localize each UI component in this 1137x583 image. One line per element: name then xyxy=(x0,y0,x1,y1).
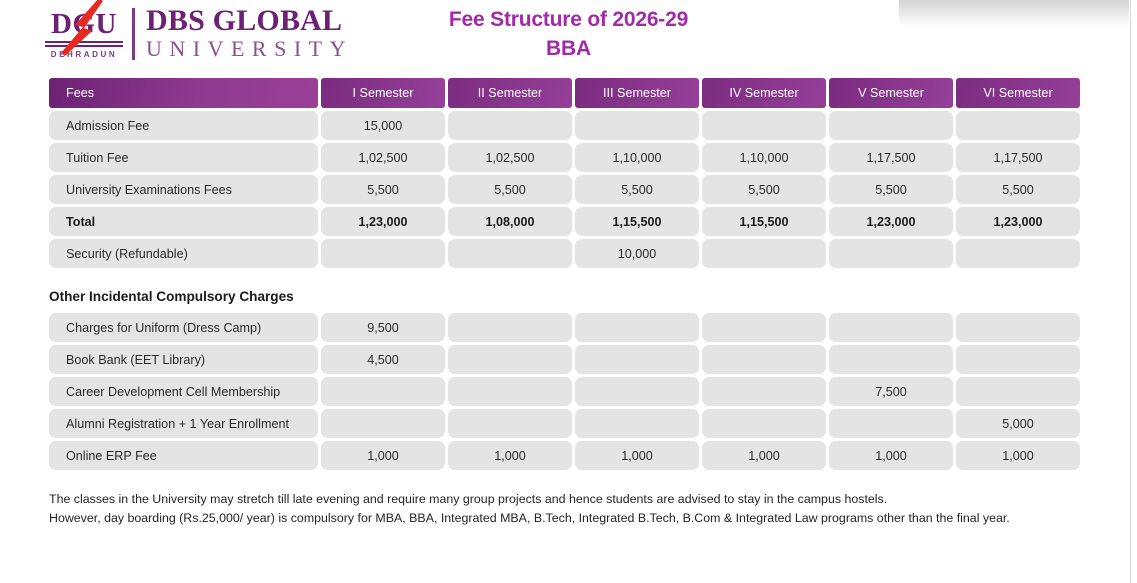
row-value xyxy=(956,377,1080,406)
row-value: 5,500 xyxy=(448,175,572,204)
row-label: Tuition Fee xyxy=(49,143,318,172)
footnote-line-2: However, day boarding (Rs.25,000/ year) … xyxy=(49,509,1137,528)
row-value xyxy=(956,313,1080,342)
page-title-line2: BBA xyxy=(0,35,1137,64)
row-value xyxy=(575,111,699,140)
row-value: 1,02,500 xyxy=(448,143,572,172)
row-label: Online ERP Fee xyxy=(49,441,318,470)
row-value: 5,000 xyxy=(956,409,1080,438)
row-value xyxy=(829,239,953,268)
row-value: 5,500 xyxy=(956,175,1080,204)
column-header-fees: Fees xyxy=(49,78,318,108)
row-value xyxy=(321,409,445,438)
row-value: 1,08,000 xyxy=(448,207,572,236)
row-value xyxy=(448,313,572,342)
row-value xyxy=(575,345,699,374)
row-value: 1,23,000 xyxy=(829,207,953,236)
footnotes: The classes in the University may stretc… xyxy=(49,490,1137,528)
row-value: 1,10,000 xyxy=(702,143,826,172)
row-value: 1,000 xyxy=(448,441,572,470)
row-value xyxy=(575,313,699,342)
column-header-sem-2: II Semester xyxy=(448,78,572,108)
row-value xyxy=(702,111,826,140)
row-value: 1,15,500 xyxy=(702,207,826,236)
row-value: 1,000 xyxy=(321,441,445,470)
row-value: 1,17,500 xyxy=(829,143,953,172)
row-value: 1,23,000 xyxy=(956,207,1080,236)
table-header-row: Fees I Semester II Semester III Semester… xyxy=(49,78,1069,108)
row-value: 1,000 xyxy=(702,441,826,470)
row-value: 1,000 xyxy=(956,441,1080,470)
table-row: Tuition Fee 1,02,500 1,02,500 1,10,000 1… xyxy=(49,143,1069,172)
row-value: 1,000 xyxy=(829,441,953,470)
row-value: 10,000 xyxy=(575,239,699,268)
row-label: Career Development Cell Membership xyxy=(49,377,318,406)
row-value: 4,500 xyxy=(321,345,445,374)
row-value: 5,500 xyxy=(575,175,699,204)
row-value: 1,23,000 xyxy=(321,207,445,236)
column-header-sem-4: IV Semester xyxy=(702,78,826,108)
row-label: Book Bank (EET Library) xyxy=(49,345,318,374)
row-value xyxy=(448,377,572,406)
incidental-charges-heading: Other Incidental Compulsory Charges xyxy=(49,289,1137,304)
row-label: Alumni Registration + 1 Year Enrollment xyxy=(49,409,318,438)
row-value: 5,500 xyxy=(321,175,445,204)
row-value xyxy=(829,111,953,140)
page-title-line1: Fee Structure of 2026-29 xyxy=(449,8,688,31)
row-label: Charges for Uniform (Dress Camp) xyxy=(49,313,318,342)
row-value xyxy=(702,409,826,438)
column-header-sem-1: I Semester xyxy=(321,78,445,108)
row-value xyxy=(956,239,1080,268)
fee-structure-table: Fees I Semester II Semester III Semester… xyxy=(49,78,1069,268)
fee-structure-page: DGU DEHRADUN DBS GLOBAL UNIVERSITY Fee S… xyxy=(0,0,1137,583)
row-value: 1,17,500 xyxy=(956,143,1080,172)
footnote-line-1: The classes in the University may stretc… xyxy=(49,490,1137,509)
page-right-edge xyxy=(1130,0,1137,583)
table-row: Career Development Cell Membership 7,500 xyxy=(49,377,1069,406)
row-value: 15,000 xyxy=(321,111,445,140)
incidental-charges-table: Charges for Uniform (Dress Camp) 9,500 B… xyxy=(49,313,1069,470)
row-value xyxy=(448,111,572,140)
row-value xyxy=(448,409,572,438)
row-value xyxy=(702,345,826,374)
row-label: Security (Refundable) xyxy=(49,239,318,268)
row-value xyxy=(956,111,1080,140)
row-value: 5,500 xyxy=(829,175,953,204)
row-value xyxy=(702,377,826,406)
column-header-sem-3: III Semester xyxy=(575,78,699,108)
row-value xyxy=(829,313,953,342)
page-header: DGU DEHRADUN DBS GLOBAL UNIVERSITY Fee S… xyxy=(0,0,1137,78)
row-value xyxy=(829,345,953,374)
row-value: 1,000 xyxy=(575,441,699,470)
row-value: 1,02,500 xyxy=(321,143,445,172)
table-row: Security (Refundable) 10,000 xyxy=(49,239,1069,268)
table-row: University Examinations Fees 5,500 5,500… xyxy=(49,175,1069,204)
row-value xyxy=(321,239,445,268)
table-row-total: Total 1,23,000 1,08,000 1,15,500 1,15,50… xyxy=(49,207,1069,236)
page-title: Fee Structure of 2026-29 BBA xyxy=(0,6,1137,64)
row-value xyxy=(448,345,572,374)
row-label: Admission Fee xyxy=(49,111,318,140)
table-row: Admission Fee 15,000 xyxy=(49,111,1069,140)
row-value: 9,500 xyxy=(321,313,445,342)
table-row: Book Bank (EET Library) 4,500 xyxy=(49,345,1069,374)
row-label: University Examinations Fees xyxy=(49,175,318,204)
table-row: Alumni Registration + 1 Year Enrollment … xyxy=(49,409,1069,438)
row-label: Total xyxy=(49,207,318,236)
row-value: 1,10,000 xyxy=(575,143,699,172)
column-header-sem-5: V Semester xyxy=(829,78,953,108)
row-value xyxy=(829,409,953,438)
row-value: 1,15,500 xyxy=(575,207,699,236)
row-value xyxy=(448,239,572,268)
row-value xyxy=(702,313,826,342)
row-value: 7,500 xyxy=(829,377,953,406)
row-value xyxy=(575,377,699,406)
row-value xyxy=(702,239,826,268)
row-value: 5,500 xyxy=(702,175,826,204)
row-value xyxy=(575,409,699,438)
column-header-sem-6: VI Semester xyxy=(956,78,1080,108)
row-value xyxy=(956,345,1080,374)
row-value xyxy=(321,377,445,406)
table-row: Charges for Uniform (Dress Camp) 9,500 xyxy=(49,313,1069,342)
table-row: Online ERP Fee 1,000 1,000 1,000 1,000 1… xyxy=(49,441,1069,470)
